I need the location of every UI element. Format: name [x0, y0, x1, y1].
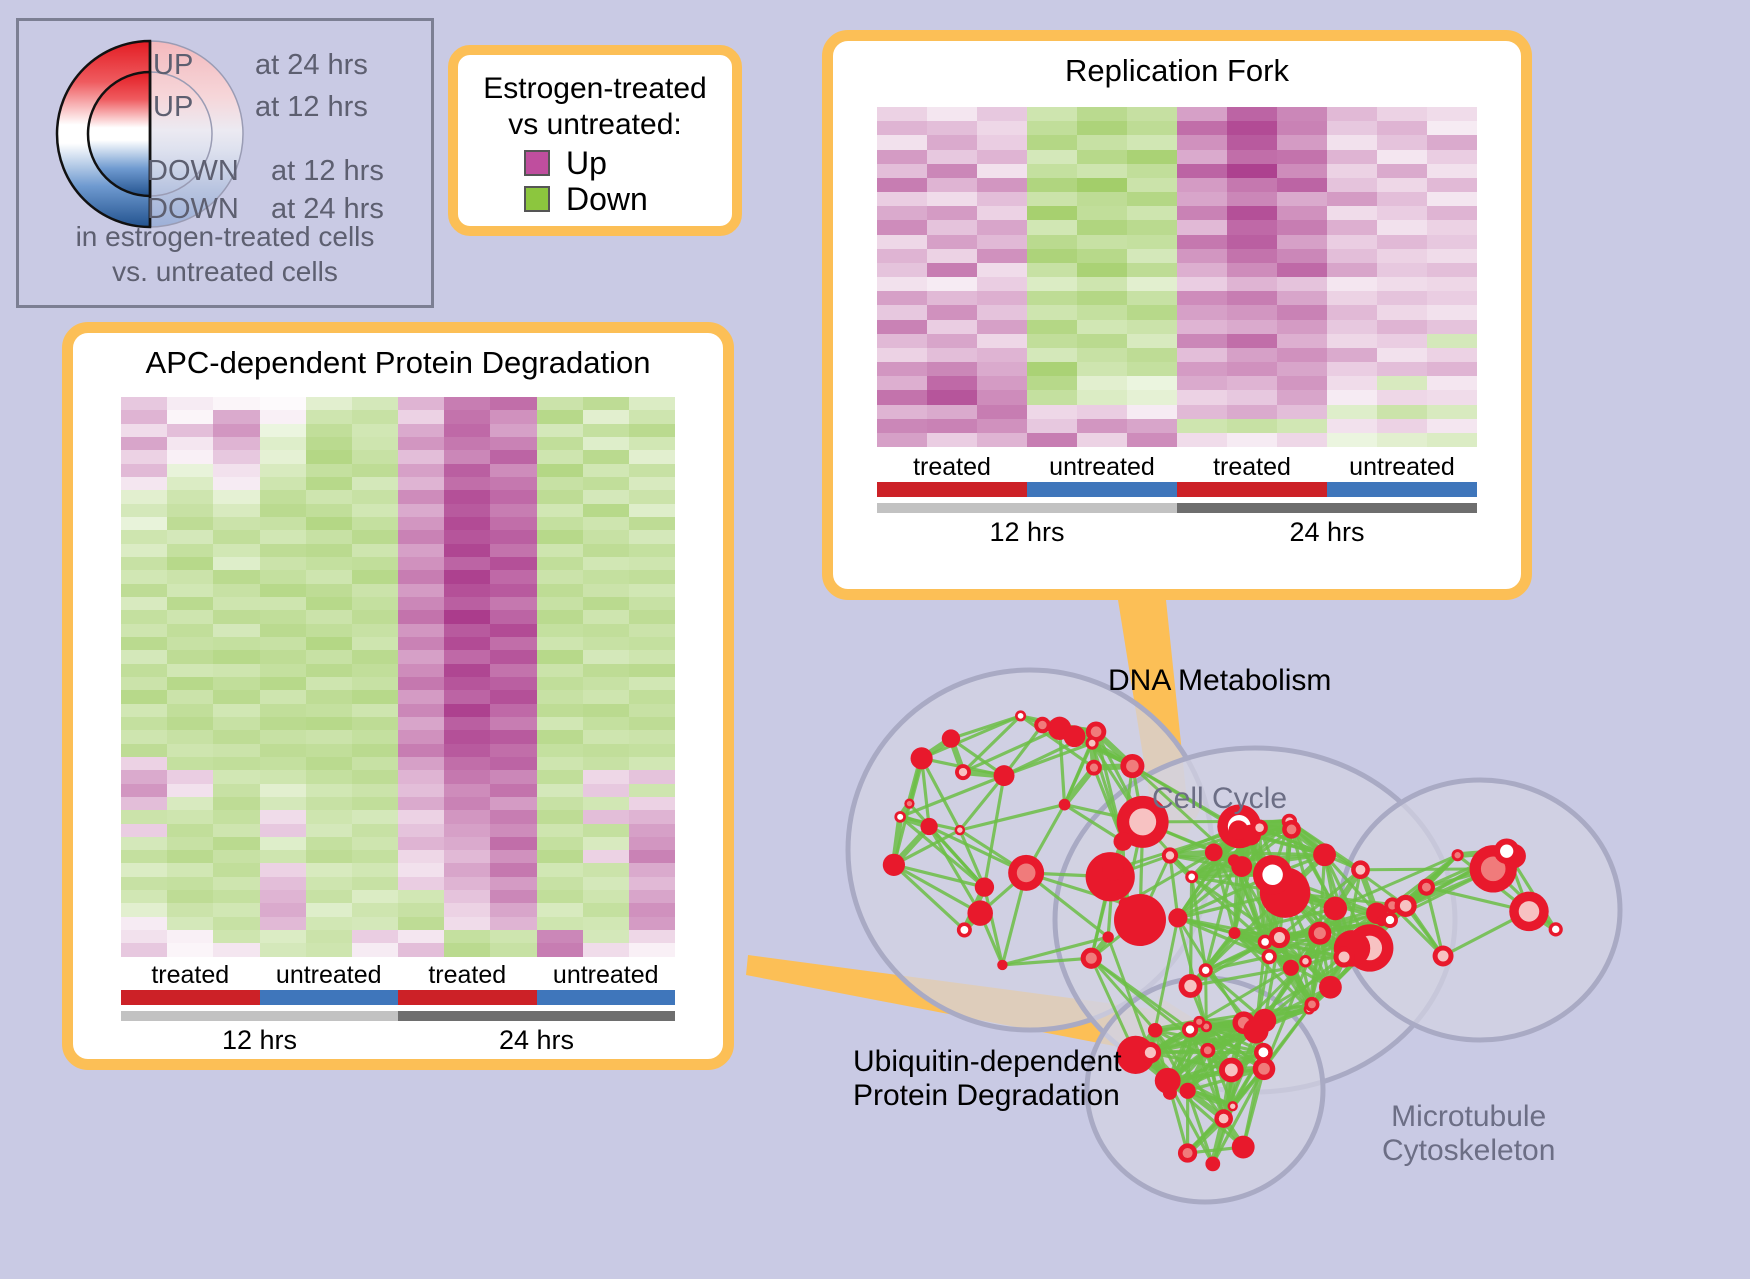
heatmap-cell	[121, 477, 167, 490]
heatmap-cell	[167, 797, 213, 810]
heatmap-cell	[1377, 121, 1427, 135]
heatmap-cell	[490, 877, 536, 890]
heatmap-cell	[260, 863, 306, 876]
heatmap-row	[121, 424, 675, 437]
heatmap-cell	[1127, 121, 1177, 135]
heatmap-cell	[629, 650, 675, 663]
heatmap-cell	[398, 690, 444, 703]
heatmap-cell	[1077, 390, 1127, 404]
heatmap-cell	[629, 757, 675, 770]
heatmap-cell	[977, 220, 1027, 234]
heatmap-cell	[306, 930, 352, 943]
replication-fork-time-labels: 12 hrs24 hrs	[877, 513, 1477, 548]
heatmap-cell	[629, 784, 675, 797]
heatmap-cell	[1027, 249, 1077, 263]
heatmap-cell	[1427, 178, 1477, 192]
heatmap-cell	[1177, 263, 1227, 277]
network-node	[1205, 844, 1223, 862]
heatmap-cell	[583, 824, 629, 837]
heatmap-cell	[121, 690, 167, 703]
heatmap-row	[877, 121, 1477, 135]
heatmap-cell	[629, 704, 675, 717]
heatmap-cell	[1427, 249, 1477, 263]
heatmap-cell	[398, 917, 444, 930]
heatmap-cell	[583, 717, 629, 730]
panel-replication-fork-title: Replication Fork	[833, 53, 1521, 89]
heatmap-row	[877, 291, 1477, 305]
legend-footer: in estrogen-treated cells vs. untreated …	[19, 219, 431, 289]
heatmap-cell	[537, 797, 583, 810]
heatmap-cell	[490, 717, 536, 730]
heatmap-row	[877, 405, 1477, 419]
heatmap-cell	[583, 517, 629, 530]
heatmap-cell	[121, 917, 167, 930]
heatmap-cell	[537, 490, 583, 503]
network-node	[1418, 879, 1435, 896]
heatmap-cell	[352, 504, 398, 517]
heatmap-cell	[444, 850, 490, 863]
network-node	[1064, 725, 1086, 747]
heatmap-cell	[629, 797, 675, 810]
heatmap-cell	[260, 410, 306, 423]
heatmap-cell	[121, 544, 167, 557]
heatmap-cell	[352, 397, 398, 410]
treatment-color-bar	[537, 990, 676, 1005]
network-node	[1086, 737, 1099, 750]
heatmap-cell	[1427, 121, 1477, 135]
heatmap-cell	[306, 943, 352, 956]
heatmap-cell	[352, 544, 398, 557]
heatmap-cell	[537, 637, 583, 650]
network-node	[1232, 1136, 1255, 1159]
time-color-bar	[121, 1011, 398, 1021]
heatmap-cell	[1327, 362, 1377, 376]
heatmap-row	[121, 677, 675, 690]
heatmap-cell	[537, 424, 583, 437]
network-node	[1282, 820, 1301, 839]
heatmap-cell	[877, 206, 927, 220]
heatmap-cell	[1227, 192, 1277, 206]
heatmap-cell	[1377, 263, 1427, 277]
heatmap-cell	[927, 277, 977, 291]
network-node	[1351, 860, 1370, 879]
heatmap-cell	[977, 291, 1027, 305]
heatmap-cell	[537, 464, 583, 477]
heatmap-cell	[1427, 107, 1477, 121]
heatmap-cell	[1127, 334, 1177, 348]
heatmap-cell	[629, 903, 675, 916]
heatmap-cell	[352, 863, 398, 876]
network-node	[1395, 895, 1417, 917]
heatmap-cell	[260, 677, 306, 690]
heatmap-cell	[260, 877, 306, 890]
heatmap-cell	[977, 334, 1027, 348]
heatmap-cell	[121, 584, 167, 597]
heatmap-cell	[1177, 419, 1227, 433]
time-label: 24 hrs	[398, 1021, 675, 1056]
heatmap-cell	[213, 557, 259, 570]
heatmap-cell	[398, 824, 444, 837]
heatmap-cell	[121, 464, 167, 477]
network-node	[1433, 946, 1454, 967]
heatmap-cell	[583, 784, 629, 797]
heatmap-row	[121, 717, 675, 730]
heatmap-cell	[306, 477, 352, 490]
heatmap-cell	[877, 376, 927, 390]
network-node	[1102, 931, 1113, 942]
heatmap-cell	[537, 850, 583, 863]
heatmap-cell	[490, 863, 536, 876]
heatmap-apc-degradation	[121, 397, 675, 957]
heatmap-cell	[877, 277, 927, 291]
heatmap-cell	[1027, 263, 1077, 277]
heatmap-cell	[121, 530, 167, 543]
heatmap-cell	[1077, 277, 1127, 291]
heatmap-cell	[1327, 376, 1377, 390]
network-node	[1199, 963, 1213, 977]
heatmap-cell	[167, 557, 213, 570]
heatmap-cell	[977, 121, 1027, 135]
heatmap-row	[877, 150, 1477, 164]
heatmap-cell	[1327, 263, 1377, 277]
heatmap-cell	[398, 530, 444, 543]
heatmap-cell	[260, 810, 306, 823]
heatmap-cell	[167, 837, 213, 850]
heatmap-cell	[1177, 249, 1227, 263]
heatmap-cell	[1177, 121, 1227, 135]
heatmap-cell	[927, 178, 977, 192]
heatmap-cell	[977, 277, 1027, 291]
heatmap-cell	[927, 121, 977, 135]
heatmap-cell	[629, 450, 675, 463]
heatmap-cell	[927, 320, 977, 334]
heatmap-cell	[629, 504, 675, 517]
legend-footer-line1: in estrogen-treated cells	[19, 219, 431, 254]
heatmap-cell	[537, 450, 583, 463]
heatmap-cell	[352, 837, 398, 850]
heatmap-cell	[977, 320, 1027, 334]
heatmap-cell	[1327, 433, 1377, 447]
heatmap-cell	[213, 903, 259, 916]
heatmap-cell	[444, 570, 490, 583]
heatmap-cell	[1277, 348, 1327, 362]
heatmap-cell	[260, 690, 306, 703]
heatmap-cell	[1127, 305, 1177, 319]
heatmap-cell	[213, 744, 259, 757]
heatmap-cell	[444, 424, 490, 437]
heatmap-row	[877, 249, 1477, 263]
heatmap-cell	[1027, 348, 1077, 362]
heatmap-cell	[1377, 320, 1427, 334]
heatmap-cell	[1377, 390, 1427, 404]
heatmap-cell	[121, 797, 167, 810]
heatmap-cell	[1027, 334, 1077, 348]
time-color-bar	[398, 1011, 675, 1021]
heatmap-cell	[167, 757, 213, 770]
heatmap-cell	[121, 770, 167, 783]
heatmap-row	[877, 206, 1477, 220]
heatmap-cell	[490, 637, 536, 650]
heatmap-row	[121, 397, 675, 410]
heatmap-cell	[1127, 192, 1177, 206]
heatmap-cell	[398, 744, 444, 757]
heatmap-cell	[1377, 305, 1427, 319]
heatmap-row	[121, 704, 675, 717]
heatmap-cell	[213, 637, 259, 650]
heatmap-cell	[352, 757, 398, 770]
heatmap-cell	[1077, 362, 1127, 376]
heatmap-cell	[260, 730, 306, 743]
treatment-label: treated	[877, 453, 1027, 482]
heatmap-row	[121, 824, 675, 837]
heatmap-cell	[1227, 107, 1277, 121]
heatmap-cell	[398, 863, 444, 876]
treatment-label: treated	[121, 961, 260, 990]
heatmap-cell	[927, 348, 977, 362]
heatmap-cell	[306, 637, 352, 650]
heatmap-cell	[537, 730, 583, 743]
heatmap-cell	[167, 424, 213, 437]
heatmap-cell	[877, 362, 927, 376]
heatmap-cell	[1027, 305, 1077, 319]
heatmap-cell	[167, 690, 213, 703]
heatmap-cell	[629, 397, 675, 410]
heatmap-cell	[444, 397, 490, 410]
heatmap-cell	[121, 717, 167, 730]
heatmap-cell	[927, 390, 977, 404]
heatmap-cell	[583, 770, 629, 783]
network-node	[911, 747, 933, 769]
heatmap-cell	[877, 390, 927, 404]
heatmap-cell	[352, 557, 398, 570]
heatmap-cell	[1077, 220, 1127, 234]
heatmap-cell	[444, 744, 490, 757]
network-node	[1254, 1043, 1273, 1062]
heatmap-cell	[352, 784, 398, 797]
heatmap-cell	[1427, 348, 1477, 362]
heatmap-row	[121, 530, 675, 543]
replication-fork-time-bar	[877, 503, 1477, 513]
heatmap-cell	[213, 597, 259, 610]
heatmap-cell	[260, 837, 306, 850]
heatmap-cell	[927, 405, 977, 419]
heatmap-cell	[583, 877, 629, 890]
heatmap-cell	[1277, 135, 1327, 149]
heatmap-cell	[490, 837, 536, 850]
heatmap-cell	[260, 517, 306, 530]
heatmap-cell	[444, 544, 490, 557]
heatmap-cell	[167, 597, 213, 610]
heatmap-cell	[398, 584, 444, 597]
time-label: 12 hrs	[877, 513, 1177, 548]
heatmap-cell	[260, 704, 306, 717]
heatmap-cell	[537, 930, 583, 943]
heatmap-cell	[583, 597, 629, 610]
heatmap-cell	[1327, 249, 1377, 263]
heatmap-cell	[583, 544, 629, 557]
heatmap-cell	[1327, 305, 1377, 319]
heatmap-cell	[537, 664, 583, 677]
heatmap-cell	[629, 810, 675, 823]
heatmap-cell	[398, 717, 444, 730]
heatmap-cell	[167, 903, 213, 916]
heatmap-cell	[398, 557, 444, 570]
heatmap-cell	[537, 544, 583, 557]
heatmap-cell	[260, 464, 306, 477]
apc-treatment-labels: treateduntreatedtreateduntreated	[121, 961, 675, 990]
treatment-label: treated	[1177, 453, 1327, 482]
heatmap-cell	[167, 464, 213, 477]
heatmap-cell	[121, 597, 167, 610]
heatmap-cell	[167, 437, 213, 450]
heatmap-cell	[490, 917, 536, 930]
heatmap-cell	[213, 504, 259, 517]
heatmap-cell	[444, 490, 490, 503]
heatmap-cell	[167, 664, 213, 677]
heatmap-cell	[537, 650, 583, 663]
heatmap-cell	[1327, 178, 1377, 192]
heatmap-cell	[877, 348, 927, 362]
heatmap-cell	[629, 464, 675, 477]
heatmap-cell	[583, 810, 629, 823]
heatmap-cell	[167, 930, 213, 943]
heatmap-cell	[1377, 150, 1427, 164]
heatmap-cell	[121, 397, 167, 410]
heatmap-cell	[444, 584, 490, 597]
heatmap-cell	[306, 530, 352, 543]
updown-legend-title: Estrogen-treated vs untreated:	[468, 71, 722, 143]
heatmap-cell	[121, 704, 167, 717]
heatmap-cell	[1427, 235, 1477, 249]
heatmap-cell	[490, 397, 536, 410]
heatmap-cell	[1427, 192, 1477, 206]
heatmap-cell	[977, 305, 1027, 319]
heatmap-cell	[213, 397, 259, 410]
heatmap-cell	[444, 664, 490, 677]
heatmap-cell	[260, 544, 306, 557]
heatmap-cell	[1177, 348, 1227, 362]
heatmap-cell	[877, 320, 927, 334]
heatmap-cell	[352, 690, 398, 703]
heatmap-cell	[260, 610, 306, 623]
heatmap-cell	[398, 504, 444, 517]
heatmap-cell	[167, 744, 213, 757]
heatmap-cell	[537, 624, 583, 637]
heatmap-cell	[1077, 192, 1127, 206]
heatmap-cell	[490, 650, 536, 663]
updown-legend-title-line1: Estrogen-treated	[468, 71, 722, 107]
heatmap-cell	[1027, 220, 1077, 234]
heatmap-cell	[306, 677, 352, 690]
heatmap-cell	[927, 192, 977, 206]
heatmap-cell	[1077, 305, 1127, 319]
heatmap-cell	[167, 477, 213, 490]
heatmap-cell	[1127, 164, 1177, 178]
heatmap-cell	[444, 677, 490, 690]
heatmap-cell	[444, 517, 490, 530]
heatmap-row	[877, 178, 1477, 192]
heatmap-row	[121, 770, 675, 783]
network-node	[994, 765, 1015, 786]
heatmap-cell	[537, 837, 583, 850]
heatmap-cell	[927, 135, 977, 149]
heatmap-cell	[1277, 419, 1327, 433]
heatmap-row	[121, 504, 675, 517]
heatmap-cell	[167, 717, 213, 730]
up-down-legend-box: Estrogen-treated vs untreated: Up Down	[448, 45, 742, 236]
heatmap-cell	[306, 490, 352, 503]
network-node	[1299, 955, 1312, 968]
heatmap-cell	[260, 424, 306, 437]
heatmap-cell	[537, 903, 583, 916]
heatmap-cell	[121, 837, 167, 850]
heatmap-cell	[121, 877, 167, 890]
heatmap-cell	[629, 477, 675, 490]
network-node	[1162, 847, 1178, 863]
heatmap-cell	[1177, 291, 1227, 305]
heatmap-cell	[444, 943, 490, 956]
heatmap-cell	[1277, 150, 1327, 164]
heatmap-cell	[213, 450, 259, 463]
heatmap-cell	[583, 650, 629, 663]
heatmap-cell	[167, 917, 213, 930]
network-node	[1185, 870, 1198, 883]
heatmap-cell	[1227, 206, 1277, 220]
heatmap-cell	[877, 150, 927, 164]
treatment-color-bar	[877, 482, 1027, 497]
heatmap-cell	[260, 930, 306, 943]
network-node	[1253, 855, 1292, 894]
heatmap-cell	[306, 877, 352, 890]
heatmap-cell	[1027, 150, 1077, 164]
heatmap-cell	[213, 943, 259, 956]
heatmap-cell	[444, 637, 490, 650]
heatmap-cell	[306, 690, 352, 703]
heatmap-cell	[490, 744, 536, 757]
heatmap-cell	[877, 291, 927, 305]
heatmap-row	[121, 597, 675, 610]
heatmap-cell	[306, 517, 352, 530]
heatmap-cell	[1027, 235, 1077, 249]
heatmap-cell	[213, 490, 259, 503]
heatmap-row	[877, 235, 1477, 249]
heatmap-cell	[213, 610, 259, 623]
heatmap-cell	[1377, 433, 1427, 447]
heatmap-cell	[629, 690, 675, 703]
time-label: 24 hrs	[1177, 513, 1477, 548]
heatmap-cell	[260, 450, 306, 463]
network-node	[1452, 849, 1464, 861]
heatmap-cell	[1277, 263, 1327, 277]
heatmap-cell	[398, 837, 444, 850]
heatmap-cell	[352, 597, 398, 610]
heatmap-cell	[1327, 348, 1377, 362]
heatmap-row	[121, 690, 675, 703]
heatmap-cell	[1327, 419, 1377, 433]
heatmap-cell	[927, 362, 977, 376]
heatmap-cell	[398, 397, 444, 410]
heatmap-cell	[306, 903, 352, 916]
heatmap-cell	[490, 490, 536, 503]
heatmap-cell	[1327, 320, 1377, 334]
treatment-color-bar	[121, 990, 260, 1005]
heatmap-cell	[167, 850, 213, 863]
heatmap-cell	[1277, 334, 1327, 348]
heatmap-cell	[213, 650, 259, 663]
network-node	[1229, 820, 1249, 840]
network-node	[1179, 974, 1203, 998]
heatmap-cell	[629, 730, 675, 743]
